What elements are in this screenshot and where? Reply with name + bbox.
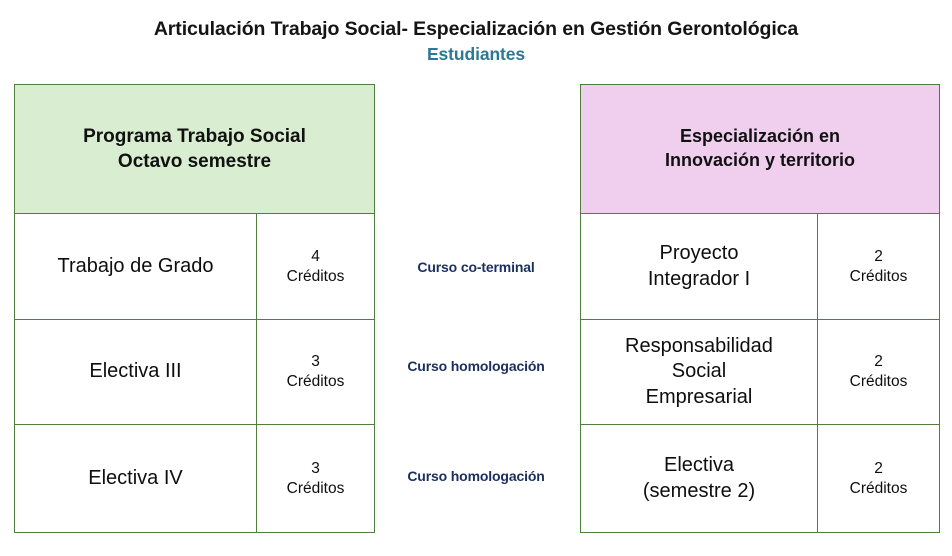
right-header-line-2: Innovación y territorio (665, 149, 855, 173)
credits-number: 3 (287, 352, 345, 372)
right-header-line-1: Especialización en (665, 125, 855, 149)
course-name-line-1: Electiva (643, 453, 755, 478)
course-credits-cell: 3 Créditos (257, 425, 375, 533)
connector-label-1: Curso homologación (376, 358, 576, 374)
left-header-line-2: Octavo semestre (83, 149, 306, 174)
course-credits-cell: 2 Créditos (818, 425, 940, 533)
right-program-table: Especialización en Innovación y territor… (580, 84, 940, 533)
page-title: Articulación Trabajo Social- Especializa… (0, 18, 952, 41)
course-name-cell: Electiva III (14, 320, 257, 425)
credits-number: 2 (850, 247, 908, 267)
course-name-cell: Electiva IV (14, 425, 257, 533)
credits-number: 3 (287, 459, 345, 479)
credits-label: Créditos (287, 372, 345, 392)
right-table-header: Especialización en Innovación y territor… (580, 84, 940, 214)
course-credits-cell: 3 Créditos (257, 320, 375, 425)
left-program-table: Programa Trabajo Social Octavo semestre … (14, 84, 375, 533)
table-row: Electiva (semestre 2) 2 Créditos (580, 425, 940, 533)
table-row: Responsabilidad Social Empresarial 2 Cré… (580, 320, 940, 425)
credits-number: 4 (287, 247, 345, 267)
credits-label: Créditos (850, 372, 908, 392)
credits-number: 2 (850, 352, 908, 372)
course-name-line-2: (semestre 2) (643, 479, 755, 504)
course-name-line-1: Responsabilidad (625, 334, 773, 359)
credits-label: Créditos (287, 479, 345, 499)
title-block: Articulación Trabajo Social- Especializa… (0, 18, 952, 65)
credits-label: Créditos (850, 479, 908, 499)
course-name-cell: Proyecto Integrador I (580, 214, 818, 320)
table-row: Electiva IV 3 Créditos (14, 425, 375, 533)
course-credits-cell: 2 Créditos (818, 214, 940, 320)
course-name-cell: Electiva (semestre 2) (580, 425, 818, 533)
left-table-header: Programa Trabajo Social Octavo semestre (14, 84, 375, 214)
course-credits-cell: 4 Créditos (257, 214, 375, 320)
course-credits-cell: 2 Créditos (818, 320, 940, 425)
credits-label: Créditos (287, 267, 345, 287)
course-name-line-3: Empresarial (625, 385, 773, 410)
course-name-line-2: Integrador I (648, 267, 750, 292)
course-name-cell: Trabajo de Grado (14, 214, 257, 320)
credits-number: 2 (850, 459, 908, 479)
table-row: Proyecto Integrador I 2 Créditos (580, 214, 940, 320)
credits-label: Créditos (850, 267, 908, 287)
course-name-cell: Responsabilidad Social Empresarial (580, 320, 818, 425)
table-row: Trabajo de Grado 4 Créditos (14, 214, 375, 320)
table-row: Electiva III 3 Créditos (14, 320, 375, 425)
connector-label-2: Curso homologación (376, 468, 576, 484)
connector-label-0: Curso co-terminal (376, 259, 576, 275)
page-subtitle: Estudiantes (0, 44, 952, 65)
course-name-line-2: Social (625, 359, 773, 384)
course-name-line-1: Proyecto (648, 241, 750, 266)
left-header-line-1: Programa Trabajo Social (83, 124, 306, 149)
